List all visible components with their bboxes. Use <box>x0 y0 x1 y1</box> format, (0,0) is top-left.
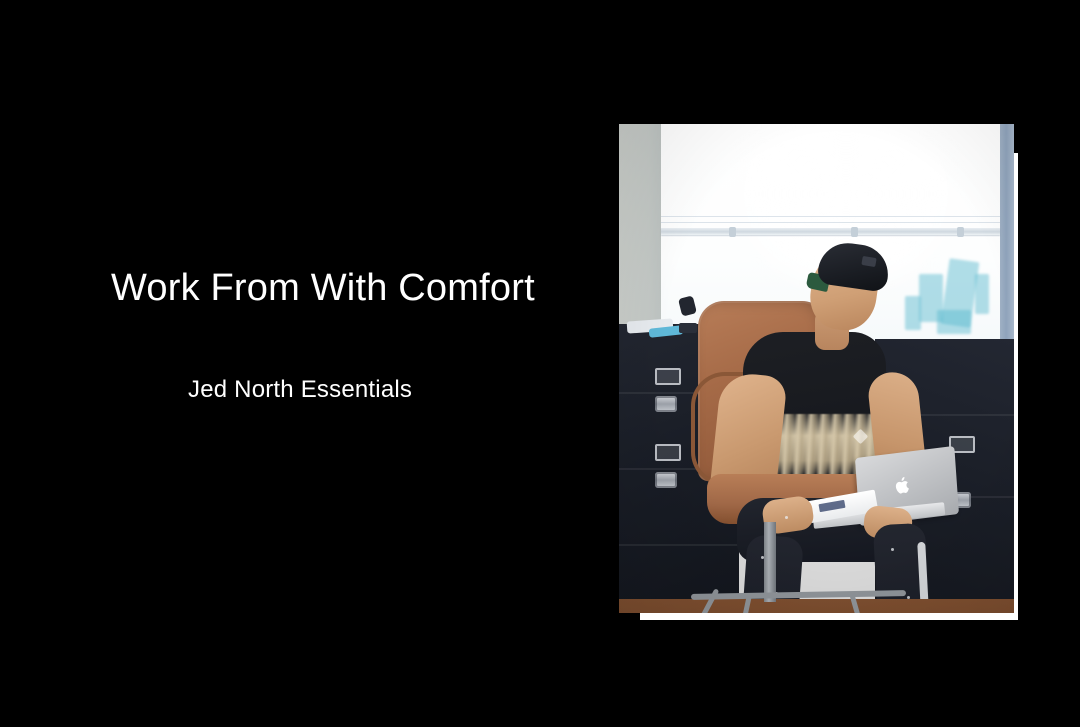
slide-subtitle: Jed North Essentials <box>188 375 412 405</box>
window-teal-shape <box>975 274 989 314</box>
paint-splatter <box>785 516 788 519</box>
photo-scene <box>619 124 1014 613</box>
window-teal-shape <box>905 296 921 330</box>
wood-floor <box>619 599 1014 613</box>
blind-rail <box>661 228 1000 235</box>
cabinet-pull <box>655 444 681 461</box>
blind-clip <box>729 227 736 237</box>
paint-splatter <box>891 548 894 551</box>
cabinet-seam <box>619 544 739 546</box>
blind-clip <box>851 227 858 237</box>
cabinet-latch <box>655 396 677 412</box>
cabinet-latch <box>655 472 677 488</box>
office-chair-column <box>764 522 776 602</box>
hero-photo <box>619 124 1014 613</box>
apple-logo-icon <box>894 475 913 496</box>
slide-canvas: Work From With Comfort Jed North Essenti… <box>0 0 1080 727</box>
blind-clip <box>957 227 964 237</box>
cabinet-pull <box>655 368 681 385</box>
page-title: Work From With Comfort <box>111 265 535 311</box>
window-teal-shape <box>937 310 971 334</box>
blind-slat <box>661 216 1000 217</box>
blind-slat <box>661 222 1000 223</box>
